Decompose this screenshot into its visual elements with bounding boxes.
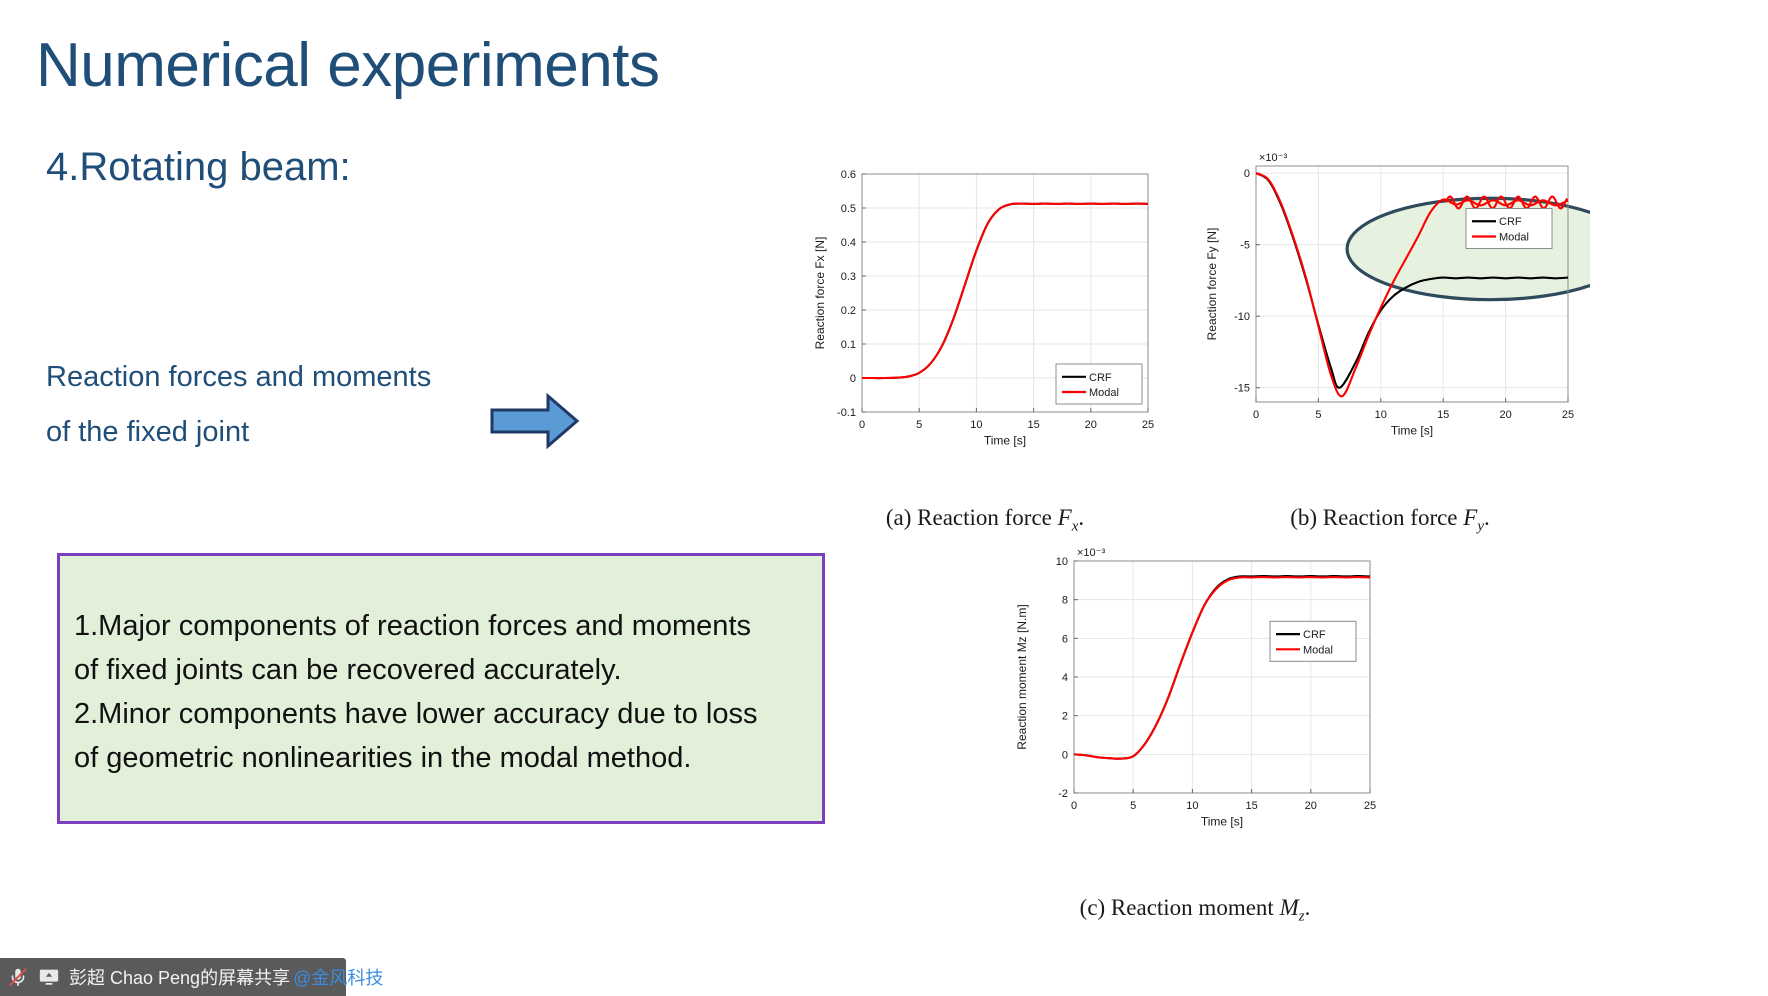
conclusion-line-2: of fixed joints can be recovered accurat… (74, 648, 812, 692)
svg-text:5: 5 (916, 419, 922, 431)
svg-text:-2: -2 (1058, 788, 1068, 800)
svg-text:20: 20 (1085, 419, 1097, 431)
svg-text:×10⁻³: ×10⁻³ (1259, 152, 1287, 164)
svg-text:25: 25 (1562, 409, 1574, 421)
screen-share-tag: @金风科技 (293, 964, 383, 990)
svg-text:10: 10 (1375, 409, 1387, 421)
svg-text:Reaction force Fy [N]: Reaction force Fy [N] (1205, 228, 1219, 341)
svg-text:-10: -10 (1234, 311, 1250, 323)
svg-text:0: 0 (850, 373, 856, 385)
svg-text:0: 0 (859, 419, 865, 431)
svg-text:20: 20 (1499, 409, 1511, 421)
microphone-muted-icon[interactable] (7, 966, 29, 988)
figure-caption-a: (a) Reaction force Fx. (800, 505, 1170, 536)
svg-text:4: 4 (1062, 672, 1068, 684)
svg-text:15: 15 (1245, 800, 1257, 812)
svg-text:5: 5 (1130, 800, 1136, 812)
svg-text:5: 5 (1315, 409, 1321, 421)
lead-text-line-2: of the fixed joint (46, 405, 566, 460)
lead-text-line-1: Reaction forces and moments (46, 350, 566, 405)
svg-text:0: 0 (1071, 800, 1077, 812)
caption-b-subscript: y (1477, 519, 1484, 535)
screen-share-taskbar[interactable]: 彭超 Chao Peng的屏幕共享 @金风科技 (0, 958, 346, 996)
svg-text:0.4: 0.4 (841, 237, 856, 249)
svg-text:CRF: CRF (1089, 372, 1112, 384)
svg-text:-5: -5 (1240, 240, 1250, 252)
svg-text:25: 25 (1142, 419, 1154, 431)
svg-text:Time [s]: Time [s] (984, 433, 1026, 447)
svg-text:-0.1: -0.1 (837, 407, 856, 419)
caption-b-prefix: (b) Reaction force (1290, 505, 1463, 530)
svg-text:CRF: CRF (1303, 629, 1326, 641)
svg-text:10: 10 (970, 419, 982, 431)
page-title: Numerical experiments (36, 30, 660, 101)
presentation-slide: Numerical experiments 4.Rotating beam: R… (0, 0, 1768, 996)
caption-b-suffix: . (1484, 505, 1490, 530)
svg-text:0.5: 0.5 (841, 203, 856, 215)
section-heading: 4.Rotating beam: (46, 145, 351, 190)
svg-text:CRF: CRF (1499, 216, 1522, 228)
svg-text:Time [s]: Time [s] (1201, 814, 1243, 828)
conclusion-line-3: 2.Minor components have lower accuracy d… (74, 692, 812, 736)
conclusion-line-1: 1.Major components of reaction forces an… (74, 604, 812, 648)
svg-text:0.6: 0.6 (841, 169, 856, 181)
svg-text:2: 2 (1062, 711, 1068, 723)
conclusion-text: 1.Major components of reaction forces an… (74, 604, 812, 780)
svg-text:0: 0 (1062, 749, 1068, 761)
svg-text:0.1: 0.1 (841, 339, 856, 351)
svg-text:0.2: 0.2 (841, 305, 856, 317)
caption-a-suffix: . (1078, 505, 1084, 530)
svg-text:6: 6 (1062, 633, 1068, 645)
right-arrow-icon (490, 390, 580, 452)
caption-a-prefix: (a) Reaction force (886, 505, 1058, 530)
figure-mz: 0510152025-20246810×10⁻³Time [s]Reaction… (1000, 535, 1390, 855)
svg-text:Modal: Modal (1499, 231, 1529, 243)
caption-c-prefix: (c) Reaction moment (1080, 895, 1280, 920)
caption-a-symbol: F (1058, 505, 1072, 530)
svg-text:Reaction moment Mz [N.m]: Reaction moment Mz [N.m] (1015, 604, 1029, 749)
svg-text:Time [s]: Time [s] (1391, 423, 1433, 437)
svg-text:10: 10 (1056, 556, 1068, 568)
figure-fy: 0510152025-15-10-50×10⁻³Time [s]Reaction… (1190, 140, 1590, 460)
svg-text:×10⁻³: ×10⁻³ (1077, 547, 1105, 559)
svg-text:0.3: 0.3 (841, 271, 856, 283)
svg-text:Reaction force Fx [N]: Reaction force Fx [N] (813, 237, 827, 350)
figure-caption-b: (b) Reaction force Fy. (1190, 505, 1590, 536)
svg-text:0: 0 (1253, 409, 1259, 421)
figure-caption-c: (c) Reaction moment Mz. (1000, 895, 1390, 926)
svg-text:8: 8 (1062, 595, 1068, 607)
figure-fx: 0510152025-0.100.10.20.30.40.50.6Time [s… (800, 160, 1170, 460)
svg-text:Modal: Modal (1303, 644, 1333, 656)
svg-text:15: 15 (1437, 409, 1449, 421)
svg-text:Modal: Modal (1089, 387, 1119, 399)
screen-share-label: 彭超 Chao Peng的屏幕共享 (69, 964, 290, 990)
screen-share-icon[interactable] (38, 966, 60, 988)
conclusion-callout-box: 1.Major components of reaction forces an… (57, 553, 825, 824)
caption-c-suffix: . (1305, 895, 1311, 920)
svg-text:0: 0 (1244, 168, 1250, 180)
svg-text:15: 15 (1027, 419, 1039, 431)
svg-text:20: 20 (1305, 800, 1317, 812)
conclusion-line-4: of geometric nonlinearities in the modal… (74, 736, 812, 780)
caption-c-symbol: M (1280, 895, 1299, 920)
svg-text:-15: -15 (1234, 383, 1250, 395)
caption-b-symbol: F (1463, 505, 1477, 530)
svg-text:10: 10 (1186, 800, 1198, 812)
lead-text-block: Reaction forces and moments of the fixed… (46, 350, 566, 460)
svg-text:25: 25 (1364, 800, 1376, 812)
